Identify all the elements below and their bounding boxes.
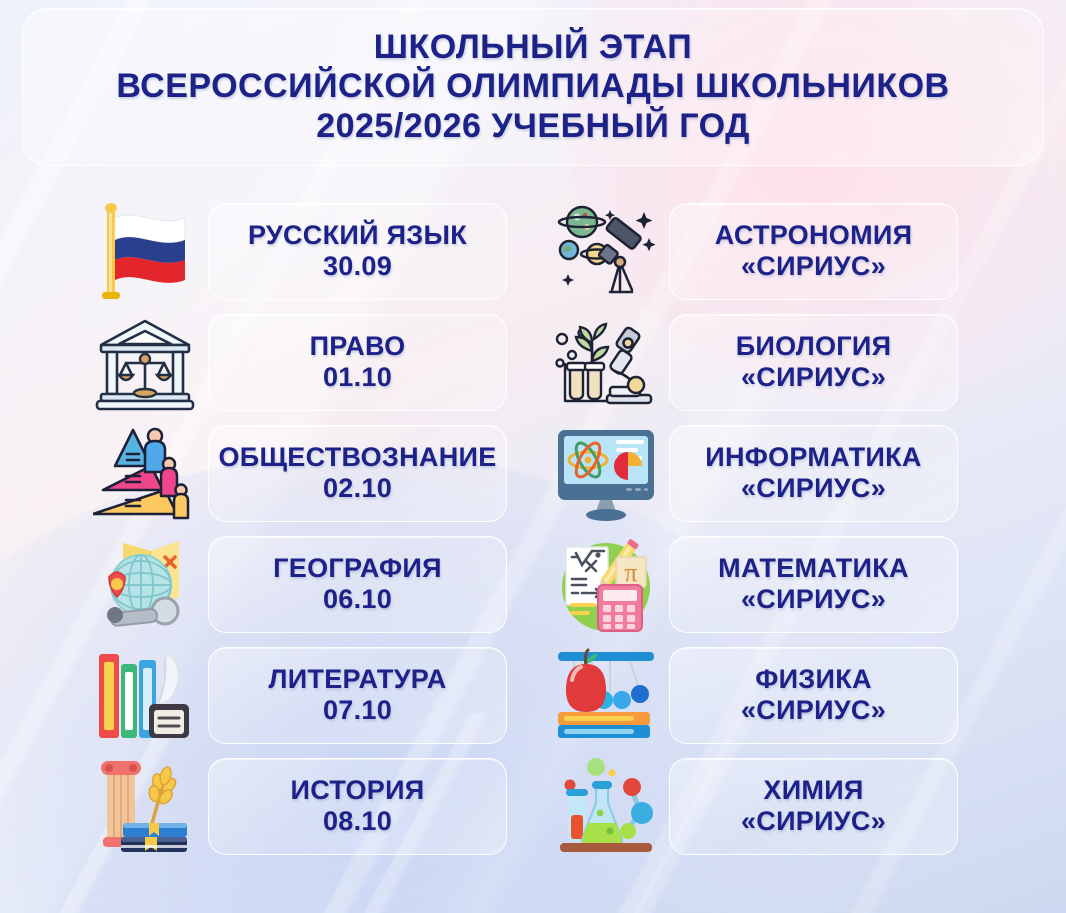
subject-platform: «СИРИУС» bbox=[741, 695, 886, 727]
subject-name: АСТРОНОМИЯ bbox=[715, 220, 913, 250]
subject-name: ФИЗИКА bbox=[755, 664, 872, 694]
subject-name: ОБЩЕСТВОЗНАНИЕ bbox=[218, 442, 496, 472]
subject-card-russian[interactable]: РУССКИЙ ЯЗЫК 30.09 bbox=[208, 203, 507, 300]
subject-platform: «СИРИУС» bbox=[741, 362, 886, 394]
subject-name: МАТЕМАТИКА bbox=[718, 553, 909, 583]
subject-date: 08.10 bbox=[323, 806, 392, 838]
subject-name: ЛИТЕРАТУРА bbox=[268, 664, 446, 694]
subject-date: 30.09 bbox=[323, 251, 392, 283]
subject-name: БИОЛОГИЯ bbox=[736, 331, 892, 361]
subject-row-astronomy: АСТРОНОМИЯ «СИРИУС» bbox=[533, 196, 1066, 307]
subject-card-law[interactable]: ПРАВО 01.10 bbox=[208, 314, 507, 411]
column-books-icon bbox=[86, 755, 204, 859]
title-line-1: ШКОЛЬНЫЙ ЭТАП bbox=[374, 28, 692, 67]
subject-card-chemistry[interactable]: ХИМИЯ «СИРИУС» bbox=[669, 758, 958, 855]
subject-card-social-studies[interactable]: ОБЩЕСТВОЗНАНИЕ 02.10 bbox=[208, 425, 507, 522]
subject-row-literature: ЛИТЕРАТУРА 07.10 bbox=[0, 640, 533, 751]
title-banner: ШКОЛЬНЫЙ ЭТАП ВСЕРОССИЙСКОЙ ОЛИМПИАДЫ ШК… bbox=[22, 8, 1044, 166]
subject-date: 07.10 bbox=[323, 695, 392, 727]
subject-card-mathematics[interactable]: МАТЕМАТИКА «СИРИУС» bbox=[669, 536, 958, 633]
title-line-2: ВСЕРОССИЙСКОЙ ОЛИМПИАДЫ ШКОЛЬНИКОВ bbox=[116, 67, 949, 106]
title-line-3: 2025/2026 УЧЕБНЫЙ ГОД bbox=[316, 107, 750, 146]
subject-platform: «СИРИУС» bbox=[741, 584, 886, 616]
courthouse-scales-icon bbox=[86, 311, 204, 415]
newton-cradle-icon bbox=[547, 644, 665, 748]
subject-row-history: ИСТОРИЯ 08.10 bbox=[0, 751, 533, 862]
subject-card-physics[interactable]: ФИЗИКА «СИРИУС» bbox=[669, 647, 958, 744]
russian-flag-icon bbox=[86, 200, 204, 304]
subject-row-geography: ГЕОГРАФИЯ 06.10 bbox=[0, 529, 533, 640]
subject-name: ГЕОГРАФИЯ bbox=[273, 553, 442, 583]
subject-card-biology[interactable]: БИОЛОГИЯ «СИРИУС» bbox=[669, 314, 958, 411]
subject-row-mathematics: π МАТЕМАТИКА «СИРИУС» bbox=[533, 529, 1066, 640]
subject-row-physics: ФИЗИКА «СИРИУС» bbox=[533, 640, 1066, 751]
subject-row-social-studies: ОБЩЕСТВОЗНАНИЕ 02.10 bbox=[0, 418, 533, 529]
subject-date: 01.10 bbox=[323, 362, 392, 394]
subject-name: РУССКИЙ ЯЗЫК bbox=[248, 220, 467, 250]
subject-name: ХИМИЯ bbox=[763, 775, 863, 805]
microscope-plant-icon bbox=[547, 311, 665, 415]
subject-card-astronomy[interactable]: АСТРОНОМИЯ «СИРИУС» bbox=[669, 203, 958, 300]
subject-platform: «СИРИУС» bbox=[741, 473, 886, 505]
subject-row-law: ПРАВО 01.10 bbox=[0, 307, 533, 418]
olympiad-schedule-poster: ШКОЛЬНЫЙ ЭТАП ВСЕРОССИЙСКОЙ ОЛИМПИАДЫ ШК… bbox=[0, 0, 1066, 913]
subject-platform: «СИРИУС» bbox=[741, 806, 886, 838]
globe-map-icon bbox=[86, 533, 204, 637]
svg-text:π: π bbox=[624, 558, 637, 587]
monitor-atom-icon bbox=[547, 422, 665, 526]
subject-name: ИНФОРМАТИКА bbox=[705, 442, 921, 472]
subject-card-informatics[interactable]: ИНФОРМАТИКА «СИРИУС» bbox=[669, 425, 958, 522]
subjects-grid: РУССКИЙ ЯЗЫК 30.09 bbox=[0, 196, 1066, 862]
social-pyramid-icon bbox=[86, 422, 204, 526]
subject-card-literature[interactable]: ЛИТЕРАТУРА 07.10 bbox=[208, 647, 507, 744]
flask-molecule-icon bbox=[547, 755, 665, 859]
subject-name: ПРАВО bbox=[310, 331, 406, 361]
books-quill-icon bbox=[86, 644, 204, 748]
subject-row-chemistry: ХИМИЯ «СИРИУС» bbox=[533, 751, 1066, 862]
subject-date: 02.10 bbox=[323, 473, 392, 505]
subject-card-geography[interactable]: ГЕОГРАФИЯ 06.10 bbox=[208, 536, 507, 633]
subject-row-russian: РУССКИЙ ЯЗЫК 30.09 bbox=[0, 196, 533, 307]
subject-row-informatics: ИНФОРМАТИКА «СИРИУС» bbox=[533, 418, 1066, 529]
subject-card-history[interactable]: ИСТОРИЯ 08.10 bbox=[208, 758, 507, 855]
subject-platform: «СИРИУС» bbox=[741, 251, 886, 283]
subject-row-biology: БИОЛОГИЯ «СИРИУС» bbox=[533, 307, 1066, 418]
calculator-pi-icon: π bbox=[547, 533, 665, 637]
subject-date: 06.10 bbox=[323, 584, 392, 616]
subject-name: ИСТОРИЯ bbox=[291, 775, 425, 805]
telescope-planets-icon bbox=[547, 200, 665, 304]
